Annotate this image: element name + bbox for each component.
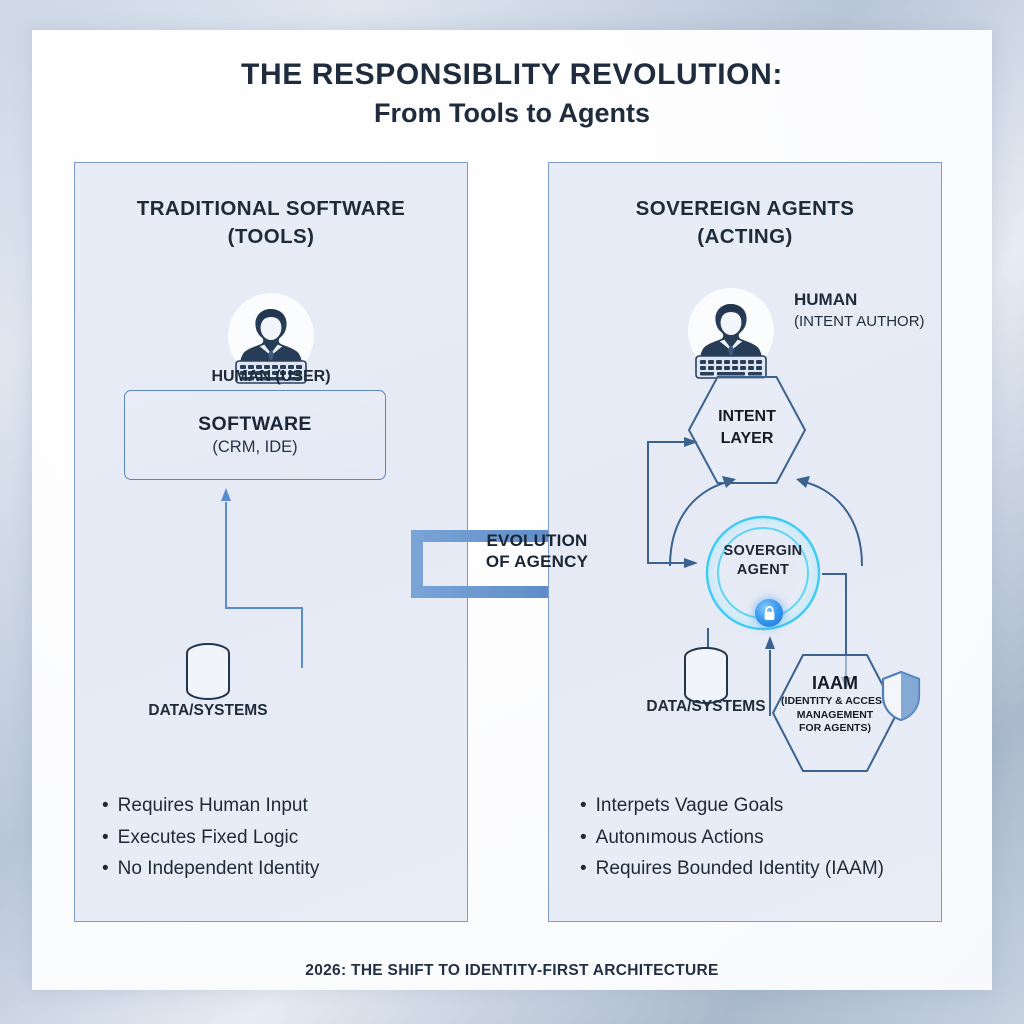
sovereign-agent-label: SOVERGIN AGENT bbox=[704, 542, 822, 580]
right-data-label: DATA/SYSTEMS bbox=[616, 698, 796, 716]
list-item: •Requires Human Input bbox=[102, 790, 319, 822]
iaam-sub-line2: MANAGEMENT bbox=[797, 709, 873, 721]
bullet-dot: • bbox=[102, 795, 109, 816]
software-box[interactable]: SOFTWARE (CRM, IDE) bbox=[124, 390, 386, 480]
footer-caption: 2026: THE SHIFT TO IDENTITY-FIRST ARCHIT… bbox=[32, 962, 992, 980]
left-bullet-list: •Requires Human Input •Executes Fixed Lo… bbox=[102, 790, 319, 885]
arrow-data-to-software bbox=[212, 478, 322, 668]
software-box-title: SOFTWARE bbox=[198, 413, 312, 436]
list-item: •Requires Bounded Identity (IAAM) bbox=[580, 853, 884, 885]
right-panel-heading-line1: SOVEREIGN AGENTS bbox=[636, 197, 855, 220]
lock-icon bbox=[755, 599, 783, 627]
bullet-dot: • bbox=[102, 827, 109, 848]
right-human-label-line1: HUMAN bbox=[794, 290, 994, 310]
bullet-text: Requires Human Input bbox=[118, 795, 308, 816]
evolution-arrow-label: EVOLUTION OF AGENCY bbox=[462, 530, 612, 573]
left-human-label: HUMAN (USER) bbox=[171, 368, 371, 386]
shield-icon bbox=[880, 670, 922, 722]
list-item: •No Independent Identity bbox=[102, 853, 319, 885]
left-panel-heading-line2: (TOOLS) bbox=[75, 223, 467, 251]
right-bullet-list: •Interpets Vague Goals •Autonımous Actio… bbox=[580, 790, 884, 885]
intent-layer-line1: INTENT bbox=[718, 408, 776, 425]
bullet-dot: • bbox=[102, 858, 109, 879]
left-panel-heading-line1: TRADITIONAL SOFTWARE bbox=[137, 197, 405, 220]
list-item: •Autonımous Actions bbox=[580, 822, 884, 854]
right-human-avatar bbox=[688, 288, 774, 374]
bullet-text: No Independent Identity bbox=[118, 858, 320, 879]
bullet-dot: • bbox=[580, 795, 587, 816]
bullet-dot: • bbox=[580, 827, 587, 848]
bullet-dot: • bbox=[580, 858, 587, 879]
list-item: •Interpets Vague Goals bbox=[580, 790, 884, 822]
infographic-canvas: THE RESPONSIBLITY REVOLUTION: From Tools… bbox=[32, 30, 992, 990]
intent-layer-label: INTENT LAYER bbox=[688, 406, 806, 449]
arrow-left-feedback bbox=[644, 430, 704, 575]
page-title: THE RESPONSIBLITY REVOLUTION: bbox=[32, 58, 992, 92]
right-panel-heading-line2: (ACTING) bbox=[549, 223, 941, 251]
right-panel-heading: SOVEREIGN AGENTS (ACTING) bbox=[549, 195, 941, 250]
right-human-label-line2: (INTENT AUTHOR) bbox=[794, 313, 1004, 330]
iaam-sub-line1: (IDENTITY & ACCESS bbox=[781, 695, 889, 707]
left-panel-heading: TRADITIONAL SOFTWARE (TOOLS) bbox=[75, 195, 467, 250]
agent-label-line2: AGENT bbox=[737, 562, 789, 578]
bullet-text: Interpets Vague Goals bbox=[596, 795, 784, 816]
iaam-sub-line3: FOR AGENTS) bbox=[799, 722, 871, 734]
intent-layer-line2: LAYER bbox=[721, 430, 774, 447]
left-data-label: DATA/SYSTEMS bbox=[118, 702, 298, 720]
bullet-text: Requires Bounded Identity (IAAM) bbox=[596, 858, 884, 879]
page-subtitle: From Tools to Agents bbox=[32, 98, 992, 129]
list-item: •Executes Fixed Logic bbox=[102, 822, 319, 854]
bullet-text: Autonımous Actions bbox=[596, 827, 764, 848]
evolution-label-line1: EVOLUTION bbox=[487, 531, 588, 550]
agent-label-line1: SOVERGIN bbox=[724, 543, 803, 559]
left-database-icon bbox=[180, 642, 236, 704]
left-human-avatar bbox=[228, 293, 314, 379]
evolution-label-line2: OF AGENCY bbox=[486, 552, 588, 571]
software-box-subtitle: (CRM, IDE) bbox=[212, 438, 297, 457]
infographic-frame: THE RESPONSIBLITY REVOLUTION: From Tools… bbox=[0, 0, 1024, 1024]
bullet-text: Executes Fixed Logic bbox=[118, 827, 299, 848]
